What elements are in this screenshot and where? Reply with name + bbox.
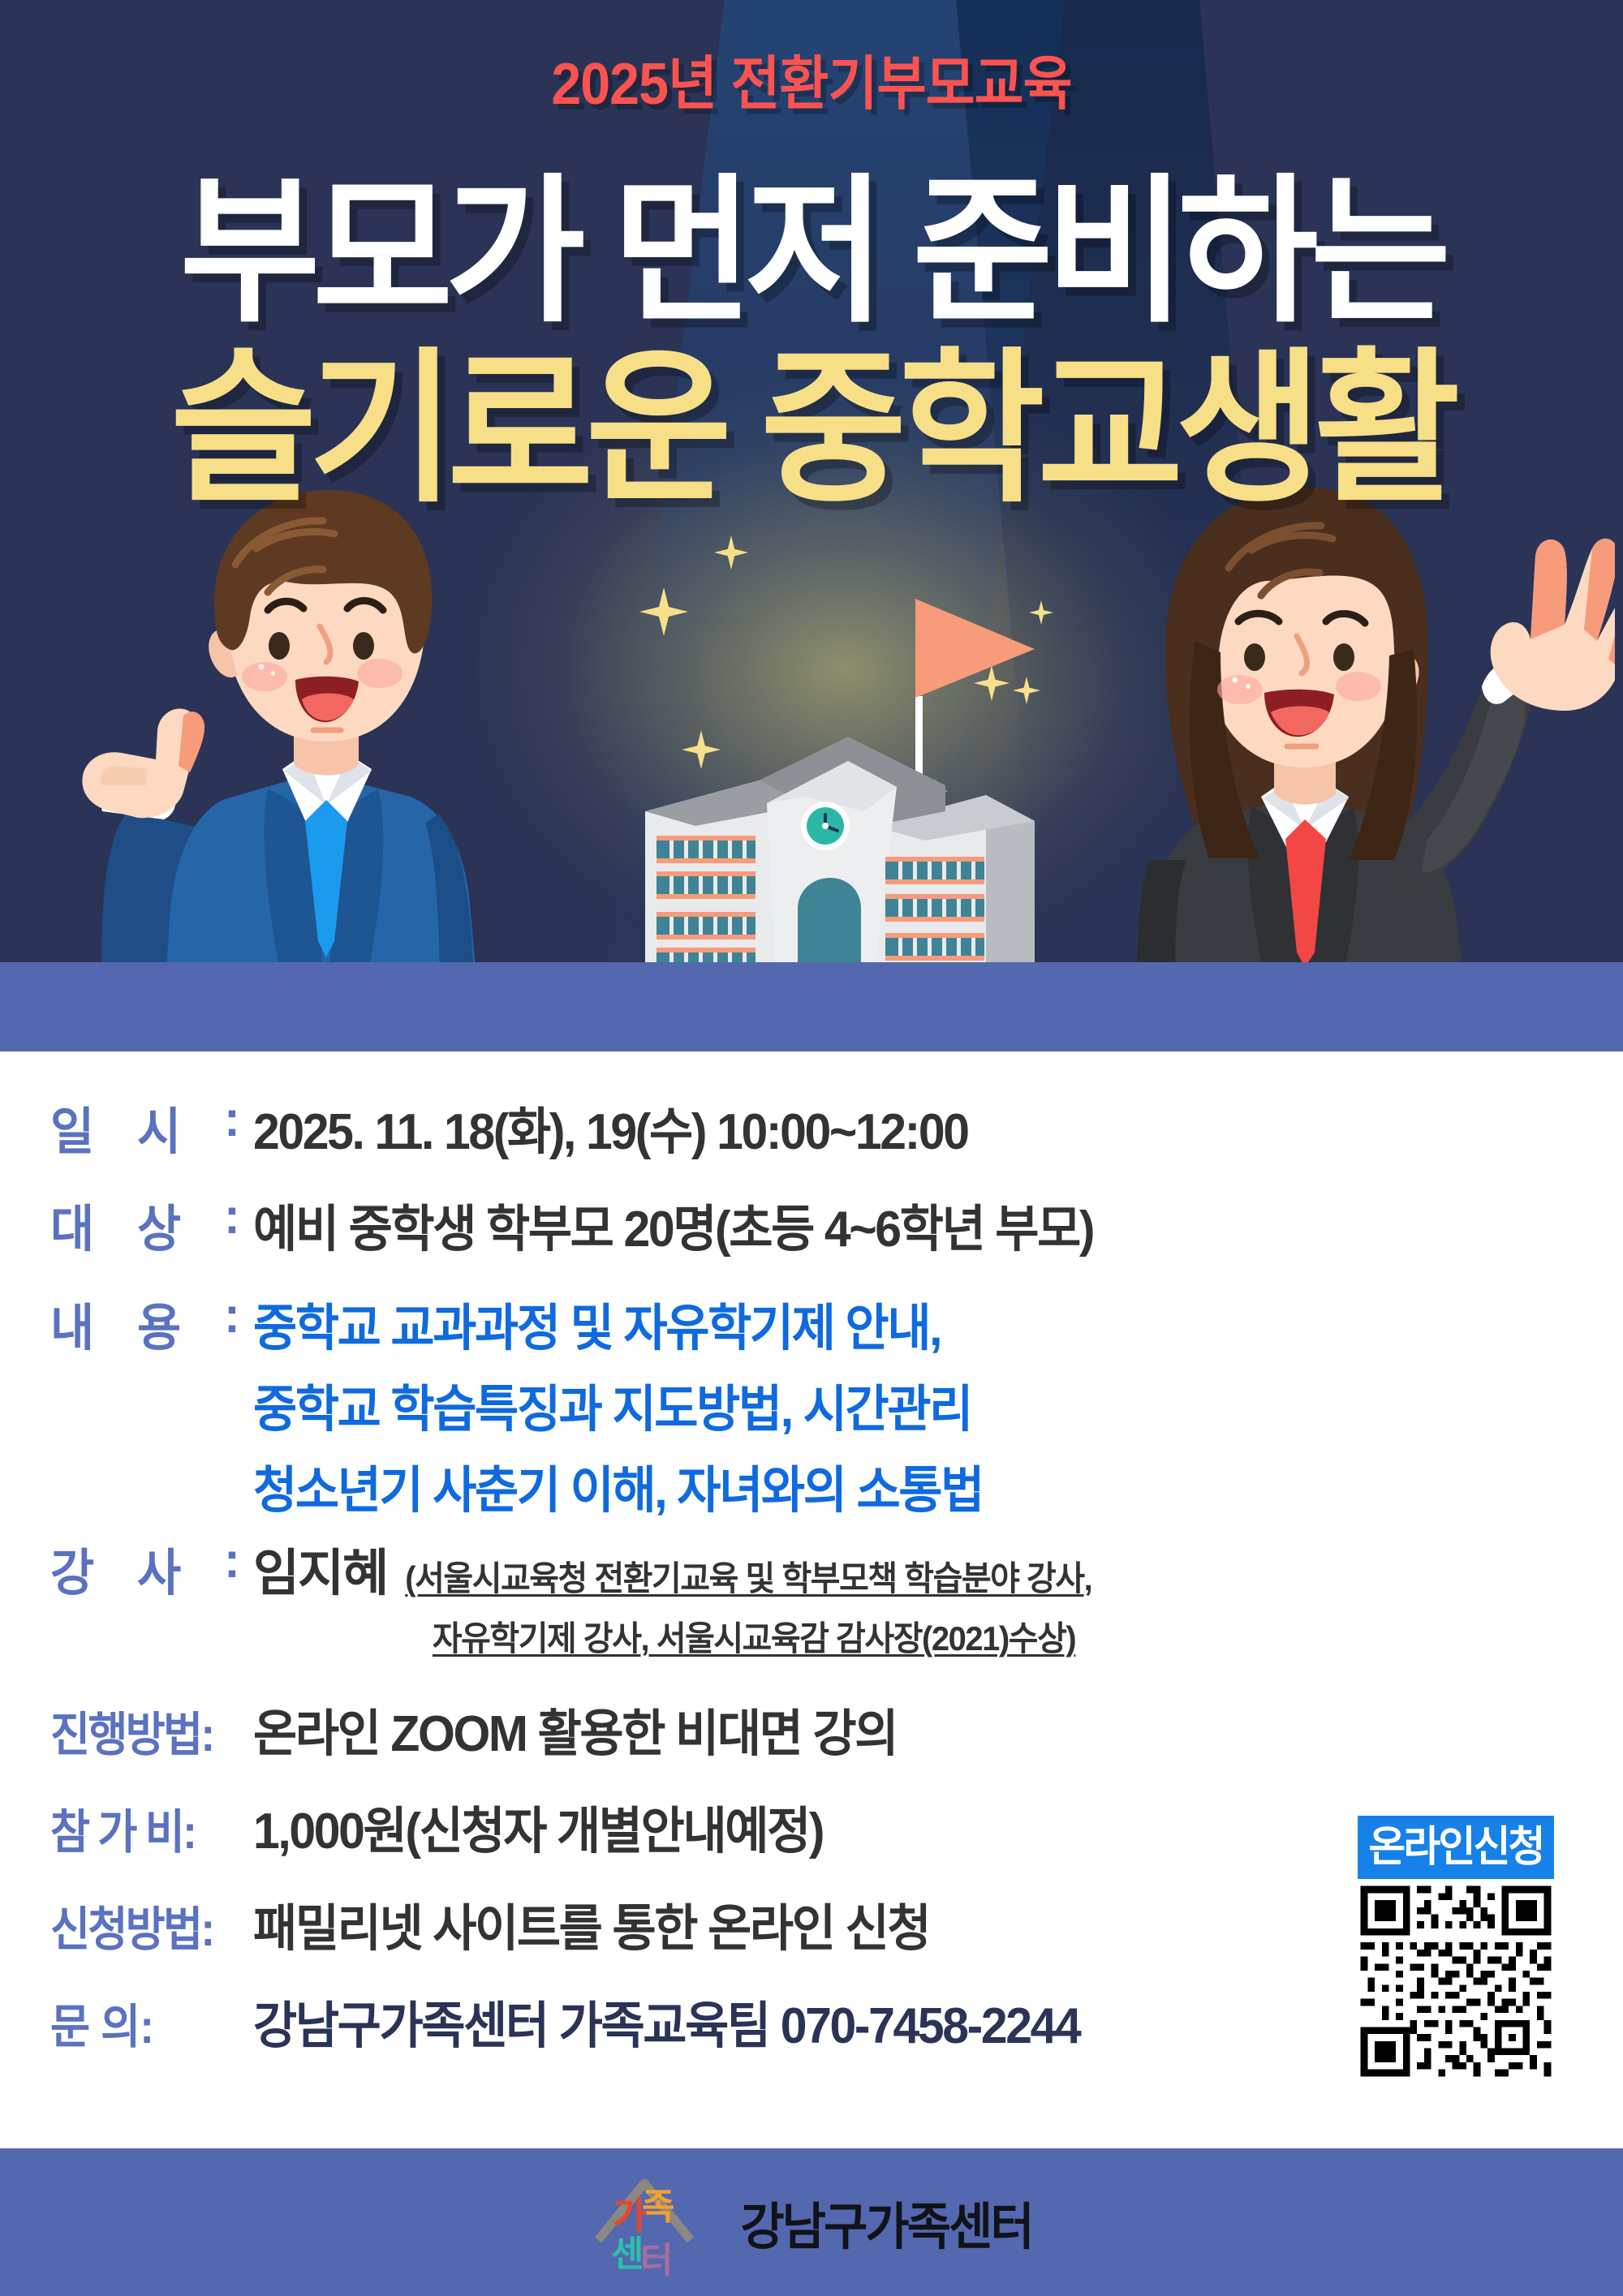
lecturer-credentials-line-1: (서울시교육청 전환기교육 및 학부모책 학습분야 강사, (405, 1551, 1091, 1601)
label-char-a: 내 (50, 1287, 93, 1360)
hero-bottom-band (0, 962, 1623, 1051)
logo-char-jok: 족 (642, 2187, 674, 2227)
label-colon: : (200, 1903, 213, 1956)
info-value-target: 예비 중학생 학부모 20명(초등 4~6학년 부모) (253, 1188, 1093, 1261)
info-label-apply: 신청방법: (50, 1891, 237, 1959)
info-value-method: 온라인 ZOOM 활용한 비대면 강의 (253, 1692, 897, 1765)
label-colon: : (224, 1188, 239, 1261)
info-row-target: 대 상 : 예비 중학생 학부모 20명(초등 4~6학년 부모) (0, 1188, 1623, 1261)
sparkle-icon (714, 535, 748, 570)
label-char-b: 상 (137, 1188, 179, 1261)
label-text: 신청방법 (50, 1903, 200, 1956)
label-colon: : (183, 1806, 195, 1859)
poster-kicker: 2025년 전환기부모교육 (65, 36, 1558, 121)
logo-char-teo: 터 (640, 2241, 673, 2279)
footer-organization-name: 강남구가족센터 (740, 2186, 1031, 2259)
info-label-content: 내 용 : (50, 1287, 243, 1360)
gajok-center-logo-icon: 가 족 센 터 (583, 2165, 705, 2279)
label-colon: : (224, 1287, 239, 1360)
label-colon: : (140, 2001, 153, 2053)
waving-woman-illustration (1047, 479, 1615, 962)
lecturer-credentials-line-2: 자유학기제 강사, 서울시교육감 감사장(2021)수상) (433, 1611, 1075, 1661)
qr-caption-badge: 온라인신청 (1358, 1816, 1554, 1879)
label-char-a: 일 (50, 1090, 93, 1163)
info-label-date: 일 시 : (50, 1090, 243, 1163)
school-flag-icon (915, 599, 1035, 698)
info-label-target: 대 상 : (50, 1188, 243, 1261)
lecturer-name: 임지혜 (253, 1532, 387, 1605)
poster-footer: 가 족 센 터 강남구가족센터 (0, 2148, 1623, 2296)
info-value-content-line-1: 중학교 교과과정 및 자유학기제 안내, (253, 1287, 941, 1360)
info-label-lecturer: 강 사 : (50, 1532, 243, 1605)
logo-char-sen: 센 (611, 2234, 644, 2274)
info-label-fee: 참 가 비: (50, 1794, 237, 1862)
label-char-b: 용 (137, 1287, 179, 1360)
poster-root: 2025년 전환기부모교육 부모가 먼저 준비하는 슬기로운 중학교생활 일 시… (0, 0, 1623, 2296)
info-label-method: 진행방법: (50, 1696, 237, 1765)
pointing-man-illustration (24, 487, 609, 962)
label-char-b: 사 (137, 1532, 179, 1605)
info-label-inquiry: 문 의: (50, 1989, 237, 2057)
info-value-apply: 패밀리넷 사이트를 통한 온라인 신청 (253, 1887, 929, 1960)
label-text: 문 의 (50, 2001, 140, 2053)
label-char-a: 대 (50, 1188, 93, 1261)
online-application-qr-block[interactable]: 온라인신청 (1354, 1816, 1558, 2083)
label-colon: : (224, 1532, 239, 1605)
info-value-date: 2025. 11. 18(화), 19(수) 10:00~12:00 (253, 1090, 968, 1163)
info-value-content-line-2: 중학교 학습특징과 지도방법, 시간관리 (253, 1368, 971, 1441)
label-char-a: 강 (50, 1532, 93, 1605)
info-row-method: 진행방법: 온라인 ZOOM 활용한 비대면 강의 (0, 1692, 1623, 1765)
info-row-lecturer: 강 사 : 임지혜 (서울시교육청 전환기교육 및 학부모책 학습분야 강사, (0, 1532, 1623, 1605)
info-value-fee: 1,000원(신청자 개별안내예정) (253, 1790, 823, 1863)
label-text: 참 가 비 (50, 1806, 183, 1859)
info-value-content-line-3: 청소년기 사춘기 이해, 자녀와의 소통법 (253, 1449, 983, 1522)
label-text: 진행방법 (50, 1709, 200, 1761)
info-value-inquiry: 강남구가족센터 가족교육팀 070-7458-2244 (253, 1984, 1079, 2057)
qr-code-image[interactable] (1354, 1879, 1558, 2083)
info-row-content: 내 용 : 중학교 교과과정 및 자유학기제 안내, (0, 1287, 1623, 1360)
label-colon: : (224, 1090, 239, 1163)
poster-title-line-2: 슬기로운 중학교생활 (32, 294, 1591, 534)
label-char-b: 시 (137, 1090, 179, 1163)
school-building-illustration (605, 568, 1059, 962)
label-colon: : (200, 1709, 213, 1761)
info-row-date: 일 시 : 2025. 11. 18(화), 19(수) 10:00~12:00 (0, 1090, 1623, 1163)
